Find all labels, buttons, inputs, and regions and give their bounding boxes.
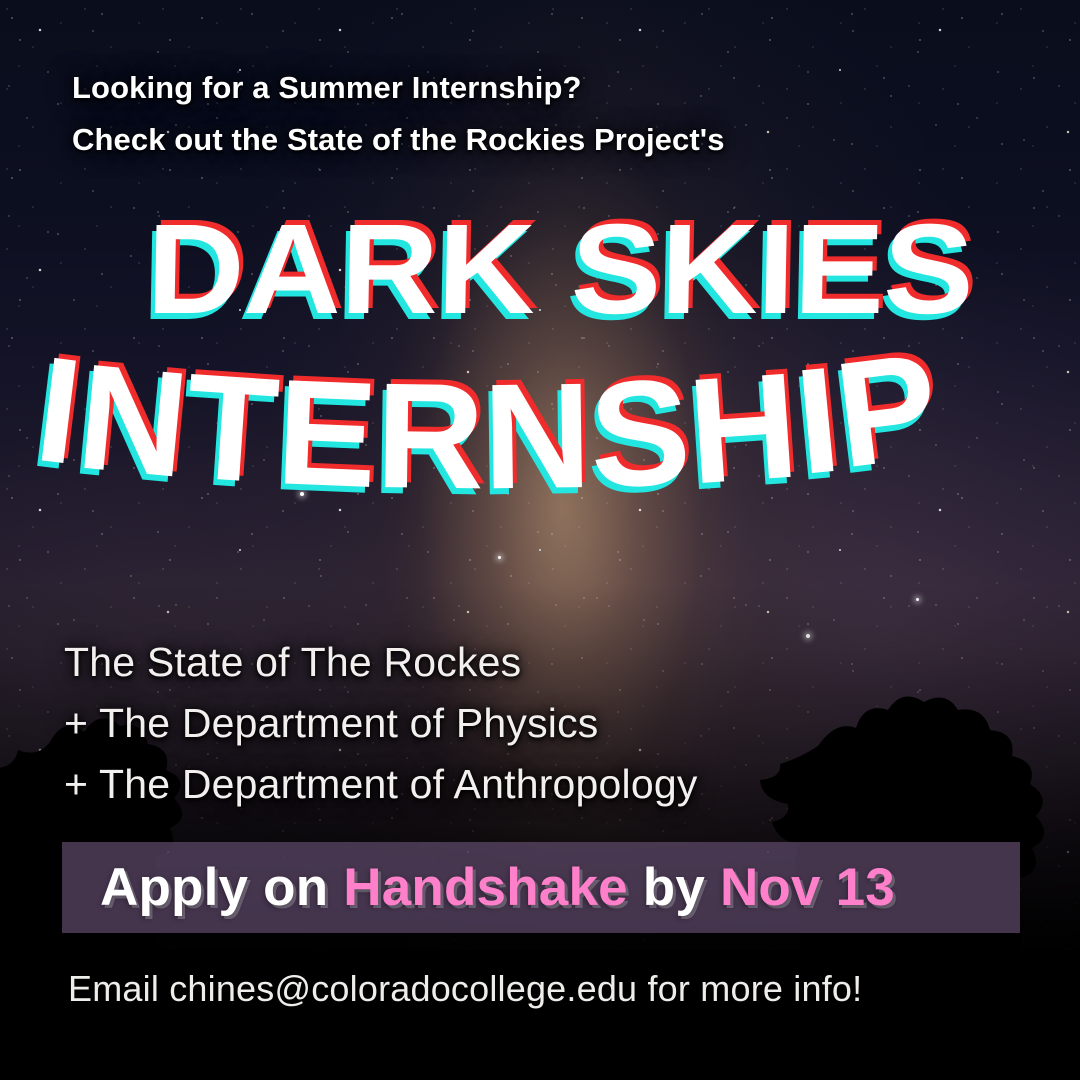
apply-banner: Apply on Handshake by Nov 13 xyxy=(62,842,1020,933)
headline-internship-letter: N xyxy=(71,330,194,512)
poster-content: Looking for a Summer Internship? Check o… xyxy=(0,0,1080,1080)
headline-internship-letter: N xyxy=(482,349,592,523)
poster-canvas: Looking for a Summer Internship? Check o… xyxy=(0,0,1080,1080)
headline-internship-letter: I xyxy=(789,333,846,509)
headline-internship-letter: P xyxy=(827,319,946,503)
lead-line-2: Check out the State of the Rockies Proje… xyxy=(72,114,725,166)
headline-internship-letter: E xyxy=(273,345,379,522)
headline-internship-letter: I xyxy=(28,322,89,499)
department-line-1: The State of The Rockes xyxy=(64,632,698,693)
lead-in-text: Looking for a Summer Internship? Check o… xyxy=(72,62,725,166)
department-line-3: + The Department of Anthropology xyxy=(64,754,698,815)
department-line-2: + The Department of Physics xyxy=(64,693,698,754)
footer-email-text: Email chines@coloradocollege.edu for mor… xyxy=(68,968,862,1010)
headline-internship-letter: T xyxy=(180,339,282,518)
headline-internship-letter: H xyxy=(684,339,803,519)
headline-internship-letter: R xyxy=(375,349,485,523)
handshake-label: Handshake xyxy=(343,858,628,917)
headline-internship: INTERNSHIP xyxy=(38,324,937,497)
department-list: The State of The Rockes + The Department… xyxy=(64,632,698,815)
apply-banner-text: Apply on Handshake by Nov 13 xyxy=(100,857,895,918)
apply-prefix: Apply on xyxy=(100,858,343,917)
deadline-date: Nov 13 xyxy=(720,858,895,917)
lead-line-1: Looking for a Summer Internship? xyxy=(72,62,725,114)
apply-middle: by xyxy=(628,858,720,917)
headline-internship-letter: S xyxy=(587,345,693,522)
headline-dark-skies: DARK SKIES xyxy=(145,196,974,343)
